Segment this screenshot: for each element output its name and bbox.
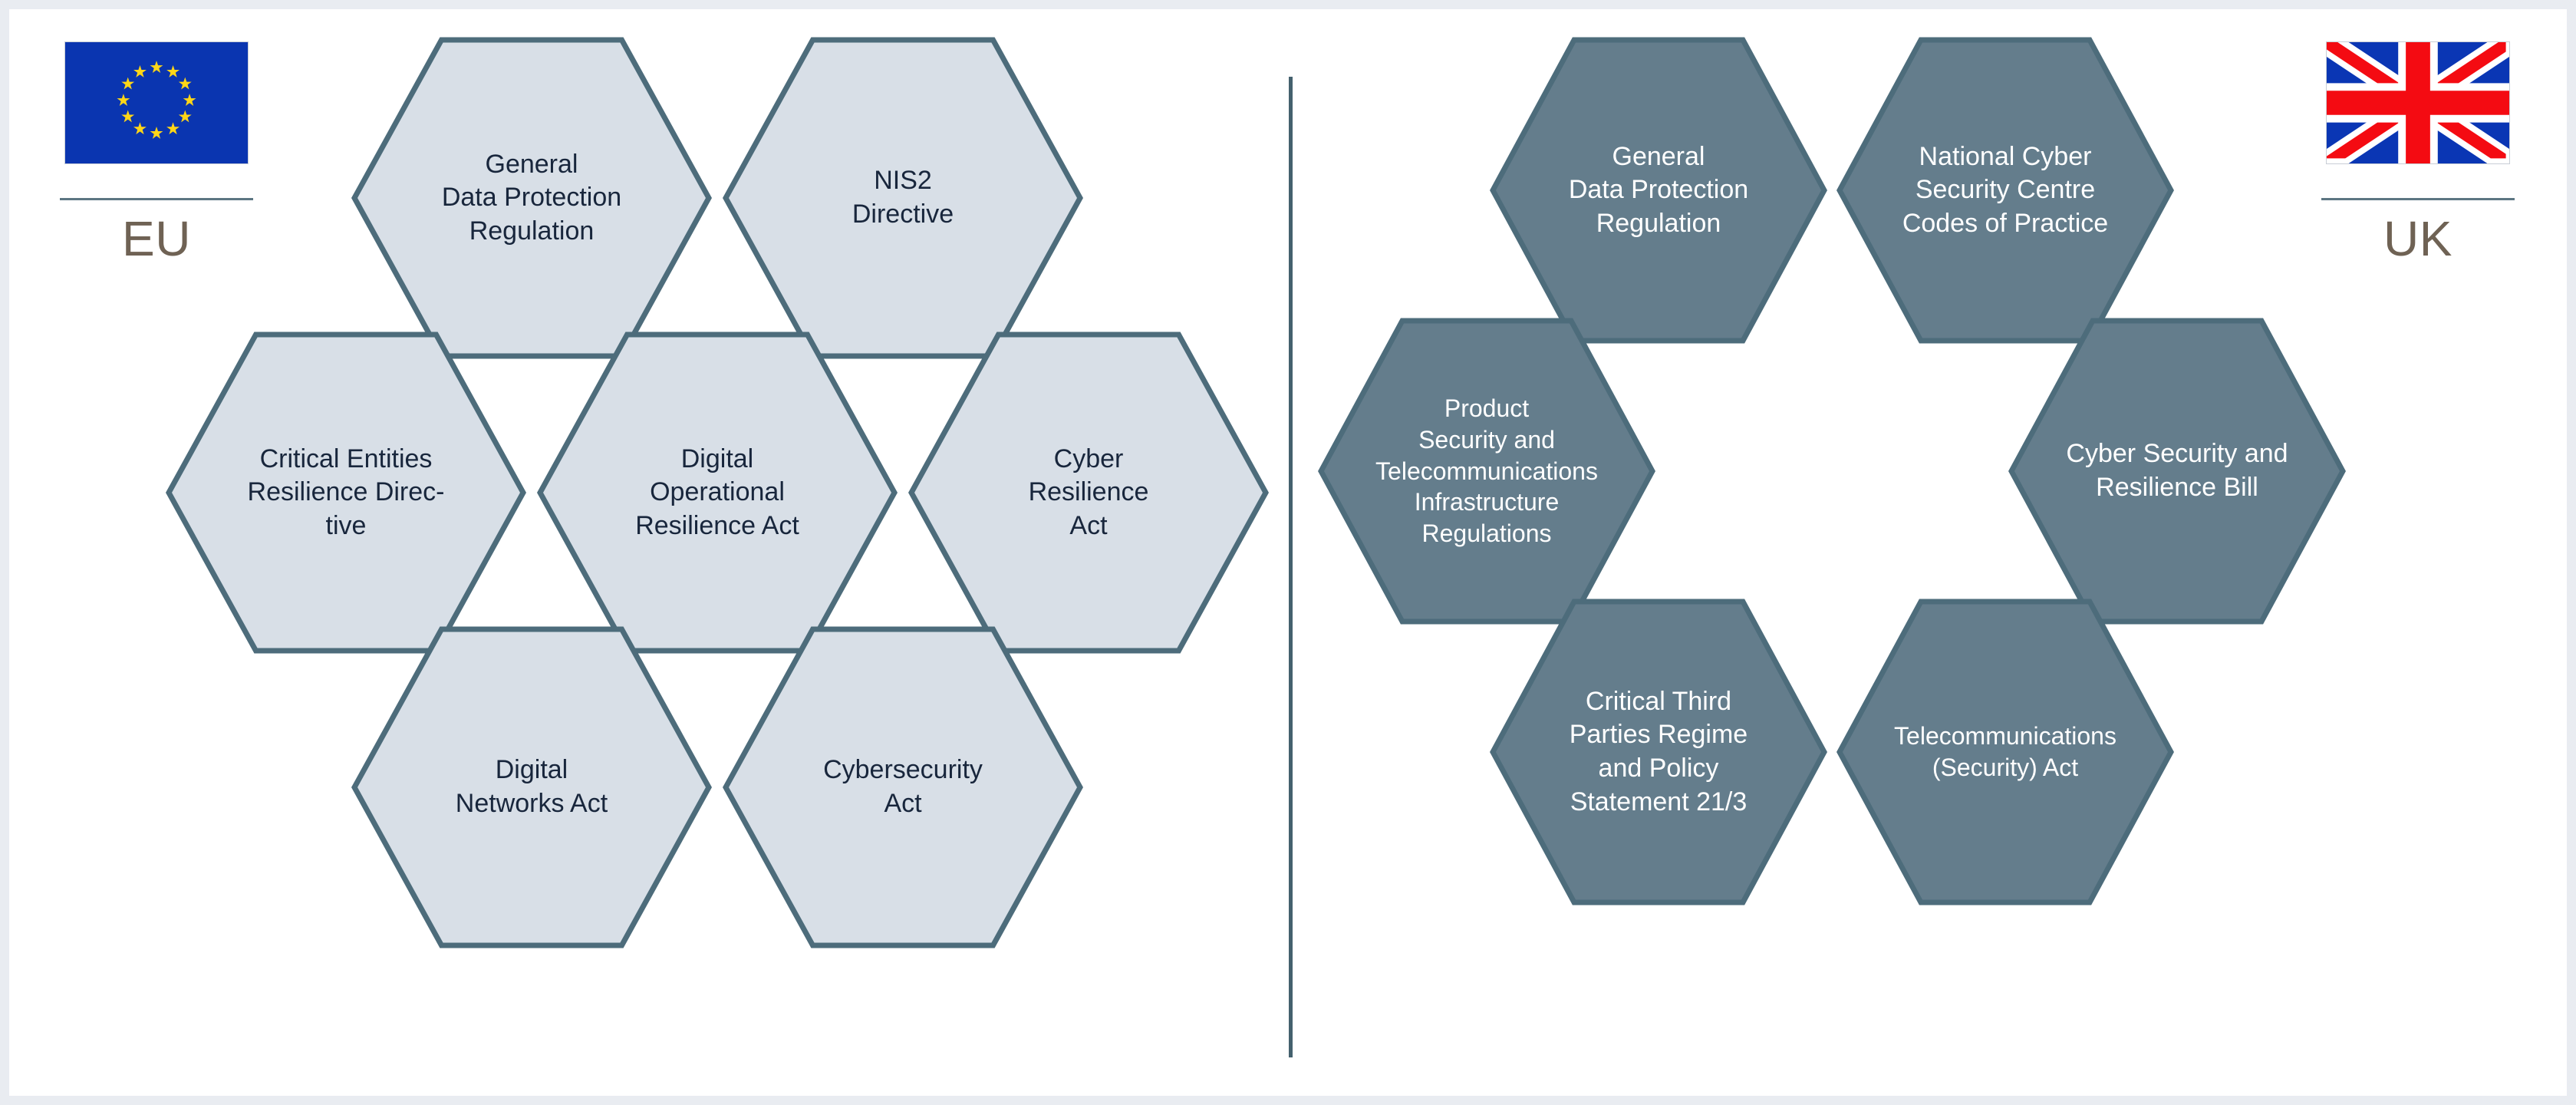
uk-hex-critical-third-parties-regime-and-policy-statement[interactable]: Critical Third Parties Regime and Policy… (1490, 599, 1827, 905)
uk-hex-national-cyber-security-centre-codes-of-practice[interactable]: National Cyber Security Centre Codes of … (1836, 37, 2174, 344)
hex-label: Cybersecurity Act (819, 754, 987, 820)
eu-hexagon-cluster: General Data Protection Regulation NIS2 … (176, 23, 1235, 1090)
uk-hex-cyber-security-and-resilience-bill[interactable]: Cyber Security and Resilience Bill (2008, 318, 2346, 625)
hex-label: Critical Third Parties Regime and Policy… (1565, 685, 1752, 819)
uk-hex-telecommunications-security-act[interactable]: Telecommunications (Security) Act (1836, 599, 2174, 905)
eu-hex-critical-entities-resilience-directive[interactable]: Critical Entities Resilience Direc- tive (166, 331, 526, 654)
hex-label: Critical Entities Resilience Direc- tive (243, 443, 450, 543)
hex-label: General Data Protection Regulation (1564, 140, 1753, 241)
hex-label: Digital Operational Resilience Act (631, 443, 804, 543)
uk-header-rule (2321, 198, 2515, 200)
hex-label: National Cyber Security Centre Codes of … (1898, 140, 2113, 241)
region-divider (1289, 77, 1293, 1057)
hex-label: Cyber Resilience Act (1024, 443, 1154, 543)
hex-label: Cyber Security and Resilience Bill (2061, 437, 2292, 504)
diagram-canvas: EU UK General Data Protection Regulation… (9, 9, 2567, 1096)
eu-hex-cyber-resilience-act[interactable]: Cyber Resilience Act (908, 331, 1269, 654)
uk-hexagon-cluster: General Data Protection Regulation Natio… (1359, 23, 2265, 1090)
eu-hex-cybersecurity-act[interactable]: Cybersecurity Act (723, 626, 1083, 948)
hex-label: NIS2 Directive (848, 164, 958, 231)
uk-hex-product-security-and-telecommunications-infrastructure-regulations[interactable]: Product Security and Telecommunications … (1318, 318, 1655, 625)
eu-hex-digital-operational-resilience-act[interactable]: Digital Operational Resilience Act (537, 331, 898, 654)
hex-label: Product Security and Telecommunications … (1371, 393, 1603, 550)
hex-label: General Data Protection Regulation (437, 148, 626, 249)
uk-region-label: UK (2303, 214, 2533, 263)
eu-hex-nis2-directive[interactable]: NIS2 Directive (723, 37, 1083, 359)
hex-label: Telecommunications (Security) Act (1889, 721, 2121, 783)
eu-hex-general-data-protection-regulation[interactable]: General Data Protection Regulation (351, 37, 712, 359)
uk-flag-icon (2326, 41, 2510, 164)
eu-hex-digital-networks-act[interactable]: Digital Networks Act (351, 626, 712, 948)
uk-hex-general-data-protection-regulation[interactable]: General Data Protection Regulation (1490, 37, 1827, 344)
hex-label: Digital Networks Act (451, 754, 612, 820)
uk-region-header: UK (2303, 41, 2533, 263)
